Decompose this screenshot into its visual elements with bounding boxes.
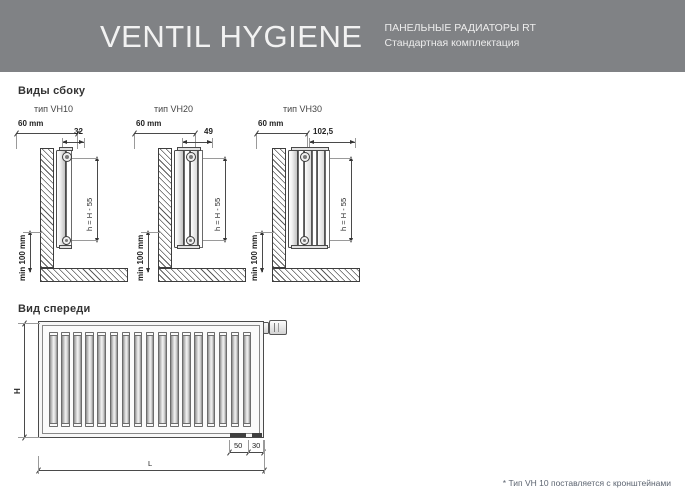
side-view-1-wall-gap-line xyxy=(16,133,78,134)
side-view-3-depth-ext-r xyxy=(355,138,356,148)
front-view-fin-cap-bottom xyxy=(194,423,203,427)
front-view-offset-dim-2: 30 xyxy=(252,441,260,450)
front-view-offset-dim-1: 50 xyxy=(234,441,242,450)
side-view-3-wall-gap-ext-left xyxy=(256,133,257,149)
side-view-3-depth-line xyxy=(309,142,355,143)
front-view-fin xyxy=(243,332,252,427)
front-view-fin-cap-bottom xyxy=(158,423,167,427)
side-view-2-bottom-cap xyxy=(177,245,200,249)
front-view-fin-cap-bottom xyxy=(146,423,155,427)
side-view-2-wall-gap-ext-left xyxy=(134,133,135,149)
side-view-3-wall xyxy=(272,148,286,268)
front-view-height-ext-bot xyxy=(18,437,40,438)
front-view-fin-cap-bottom xyxy=(73,423,82,427)
side-view-2-clearance-ext-top xyxy=(141,232,161,233)
side-view-2-height-ext-top xyxy=(203,158,226,159)
side-view-1-clearance-ext-top xyxy=(23,232,43,233)
front-view-fin xyxy=(122,332,131,427)
front-view-foot-2 xyxy=(252,433,262,437)
side-view-2-valve-top-dot xyxy=(189,155,193,159)
front-view-fin xyxy=(73,332,82,427)
side-view-2-top-cap xyxy=(177,147,201,151)
front-view-fin xyxy=(85,332,94,427)
page-header: VENTIL HYGIENE ПАНЕЛЬНЫЕ РАДИАТОРЫ RT Ст… xyxy=(0,0,685,72)
front-view-fin xyxy=(61,332,70,427)
front-view-fin-cap-bottom xyxy=(134,423,143,427)
front-view-fin-cap-bottom xyxy=(110,423,119,427)
front-view-height-ext-top xyxy=(18,323,40,324)
front-view-fin-cap-bottom xyxy=(122,423,131,427)
side-view-3-height-ext-top xyxy=(330,158,352,159)
front-view-fin xyxy=(207,332,216,427)
front-view-fin-cap-bottom xyxy=(231,423,240,427)
side-view-1-height-ext-top xyxy=(72,158,98,159)
front-view-fin-cap-top xyxy=(194,332,203,336)
side-view-3-height-label: h = H - 55 xyxy=(339,198,348,231)
side-view-2-valve-bottom-dot xyxy=(189,239,192,242)
front-view-fin-cap-bottom xyxy=(61,423,70,427)
side-view-3-bottom-cap xyxy=(291,245,328,249)
side-view-1-depth-label: 32 xyxy=(74,127,83,136)
front-view-fin-cap-top xyxy=(110,332,119,336)
front-view-height-dim-line xyxy=(24,323,25,437)
front-view-fin-cap-bottom xyxy=(219,423,228,427)
front-view-valve-line-1 xyxy=(274,323,275,332)
front-view-fin-cap-bottom xyxy=(243,423,252,427)
side-view-2-clearance-line xyxy=(148,232,149,272)
side-view-2-depth-ext-r xyxy=(212,138,213,148)
front-view-fin xyxy=(194,332,203,427)
front-view-fin-cap-bottom xyxy=(170,423,179,427)
front-view-fin xyxy=(158,332,167,427)
side-view-2-convector-2 xyxy=(198,150,203,248)
side-view-1-wall-gap-ext-left xyxy=(16,133,17,149)
front-view-fin xyxy=(170,332,179,427)
front-view-fin-cap-top xyxy=(170,332,179,336)
side-view-3-convector-3 xyxy=(325,150,330,248)
side-view-3-top-cap xyxy=(291,147,329,151)
front-view-fin xyxy=(182,332,191,427)
side-view-1-top-cap xyxy=(59,147,73,151)
front-view-fin-cap-bottom xyxy=(49,423,58,427)
side-view-1-wall-gap-label: 60 mm xyxy=(18,119,43,128)
front-view-fin-cap-top xyxy=(85,332,94,336)
header-subtitle-line2: Стандартная комплектация xyxy=(385,36,536,51)
side-view-1-panel-1 xyxy=(56,150,66,248)
side-view-3-floor xyxy=(272,268,360,282)
front-view-fin-cap-top xyxy=(243,332,252,336)
front-view-fin-cap-top xyxy=(146,332,155,336)
side-view-3-panel-3 xyxy=(317,150,325,248)
side-view-1-wall xyxy=(40,148,54,268)
header-subtitle-line1: ПАНЕЛЬНЫЕ РАДИАТОРЫ RT xyxy=(385,21,536,36)
side-view-1-clearance-label: min 100 mm xyxy=(18,235,27,281)
footnote-text: * Тип VH 10 поставляется с кронштейнами xyxy=(503,478,671,488)
side-view-2-clearance-label: min 100 mm xyxy=(136,235,145,281)
side-view-1-height-label: h = H - 55 xyxy=(85,198,94,231)
side-view-1-bottom-cap xyxy=(59,245,72,249)
side-view-1-floor xyxy=(40,268,128,282)
side-view-2-panel-2 xyxy=(190,150,198,248)
side-view-2-panel-1 xyxy=(174,150,184,248)
front-view-fin-cap-top xyxy=(182,332,191,336)
side-view-2-height-dim-line xyxy=(225,158,226,240)
front-view-fin xyxy=(97,332,106,427)
front-view-fin xyxy=(49,332,58,427)
front-view-title: Вид спереди xyxy=(18,303,90,315)
side-view-2-type-label: тип VH20 xyxy=(154,104,193,114)
side-view-1-depth-ext-r xyxy=(84,138,85,148)
front-view-fin-cap-top xyxy=(73,332,82,336)
side-view-3-wall-gap-label: 60 mm xyxy=(258,119,283,128)
side-view-3-depth-label: 102,5 xyxy=(313,127,333,136)
side-view-1-height-dim-line xyxy=(97,158,98,240)
side-view-3-panel-1 xyxy=(288,150,298,248)
side-views-title: Виды сбоку xyxy=(18,85,85,97)
side-view-1-convector-1 xyxy=(66,150,72,248)
side-view-2-floor xyxy=(158,268,246,282)
front-view-height-label: H xyxy=(13,388,22,394)
page-root: VENTIL HYGIENE ПАНЕЛЬНЫЕ РАДИАТОРЫ RT Ст… xyxy=(0,0,685,500)
front-view-fin-cap-top xyxy=(97,332,106,336)
front-view-fin-cap-top xyxy=(49,332,58,336)
side-view-2-height-ext-bot xyxy=(203,240,226,241)
side-view-1-clearance-arrow-dn xyxy=(28,268,32,273)
side-view-3-valve-top-dot xyxy=(303,155,307,159)
side-view-2-depth-label: 49 xyxy=(204,127,213,136)
side-view-3-clearance-label: min 100 mm xyxy=(250,235,259,281)
front-view-fin-cap-bottom xyxy=(85,423,94,427)
side-view-1-height-ext-bot xyxy=(72,240,98,241)
front-view-fin-cap-bottom xyxy=(97,423,106,427)
front-view-fin xyxy=(110,332,119,427)
side-view-3-valve-bottom-dot xyxy=(303,239,306,242)
side-view-1-type-label: тип VH10 xyxy=(34,104,73,114)
front-view-length-label: L xyxy=(148,459,152,468)
front-view-length-ext-left xyxy=(38,456,39,474)
side-view-3-wall-gap-line xyxy=(256,133,308,134)
front-view-fin xyxy=(231,332,240,427)
front-view-fin-cap-top xyxy=(207,332,216,336)
side-view-1-valve-top-dot xyxy=(65,155,69,159)
front-view-fin-cap-bottom xyxy=(207,423,216,427)
side-view-3-clearance-ext-top xyxy=(255,232,275,233)
side-view-1-clearance-line xyxy=(30,232,31,272)
side-view-2-height-label: h = H - 55 xyxy=(213,198,222,231)
side-view-3-height-dim-line xyxy=(351,158,352,240)
front-view-fin-cap-top xyxy=(219,332,228,336)
side-view-3-type-label: тип VH30 xyxy=(283,104,322,114)
side-view-2-wall-gap-line xyxy=(134,133,196,134)
side-view-3-clearance-line xyxy=(262,232,263,272)
side-view-2-wall-gap-label: 60 mm xyxy=(136,119,161,128)
front-view-fin-cap-top xyxy=(231,332,240,336)
front-view-foot-1 xyxy=(230,433,246,437)
front-view-offset-ext-2 xyxy=(248,440,249,454)
side-view-3-clearance-arrow-dn xyxy=(260,268,264,273)
front-view-fin xyxy=(146,332,155,427)
front-view-fin-cap-top xyxy=(158,332,167,336)
front-view-fin xyxy=(134,332,143,427)
front-view-length-dim-line xyxy=(38,470,264,471)
header-subtitle-group: ПАНЕЛЬНЫЕ РАДИАТОРЫ RT Стандартная компл… xyxy=(385,21,536,51)
front-view-valve-line-2 xyxy=(278,323,279,332)
front-view-length-ext-right xyxy=(264,440,265,474)
side-view-2-clearance-arrow-dn xyxy=(146,268,150,273)
front-view-fin-cap-top xyxy=(122,332,131,336)
page-title: VENTIL HYGIENE xyxy=(100,21,363,52)
side-view-3-panel-2 xyxy=(304,150,312,248)
side-view-2-wall xyxy=(158,148,172,268)
front-view-offset-ext-1 xyxy=(229,440,230,454)
front-view-fin-cap-top xyxy=(61,332,70,336)
front-view-fin-cap-bottom xyxy=(182,423,191,427)
side-view-1-valve-bottom-dot xyxy=(65,239,68,242)
front-view-fin-cap-top xyxy=(134,332,143,336)
front-view-fin xyxy=(219,332,228,427)
side-view-3-height-ext-bot xyxy=(330,240,352,241)
